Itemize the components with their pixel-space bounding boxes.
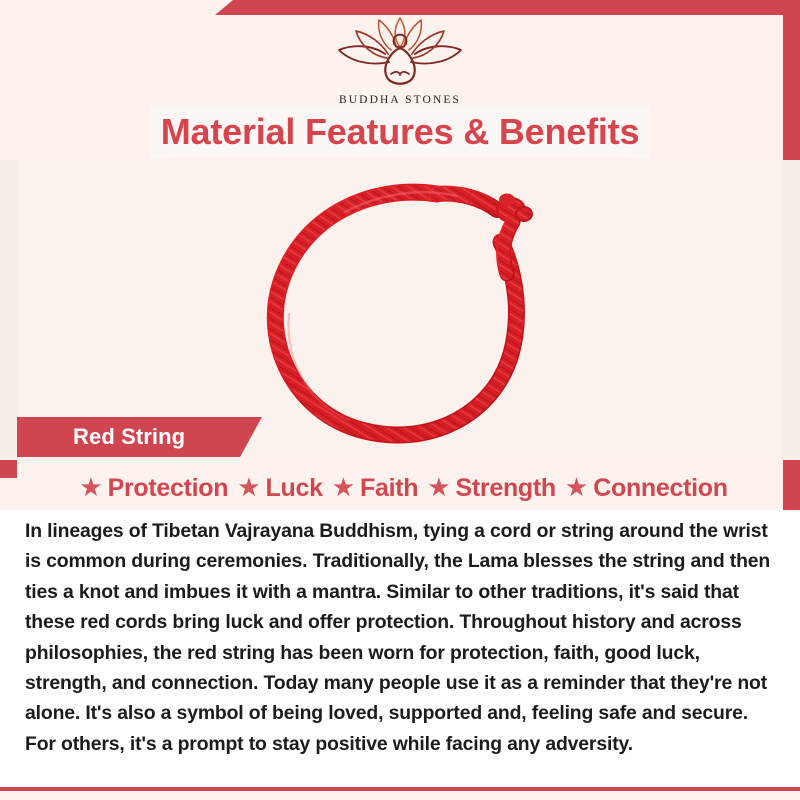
page-title: Material Features & Benefits xyxy=(161,111,640,153)
hero-section xyxy=(0,160,800,460)
benefit-item: ★ Protection xyxy=(72,474,228,503)
benefit-item: ★ Strength xyxy=(420,474,556,503)
benefit-label: Luck xyxy=(266,474,323,503)
star-icon: ★ xyxy=(237,474,260,500)
brand-logo: BUDDHA STONES xyxy=(0,14,800,106)
product-label-banner: Red String xyxy=(17,417,262,457)
benefits-row: ★ Protection ★ Luck ★ Faith ★ Strength ★… xyxy=(0,466,800,510)
lotus-meditation-icon xyxy=(327,14,473,92)
star-icon: ★ xyxy=(427,474,450,500)
decorative-bottom-rule xyxy=(0,787,800,791)
benefit-label: Protection xyxy=(108,474,229,503)
benefit-label: Faith xyxy=(360,474,418,503)
benefit-item: ★ Faith xyxy=(325,474,419,503)
product-label: Red String xyxy=(73,424,185,450)
red-braided-string-bracelet-image xyxy=(245,164,575,456)
star-icon: ★ xyxy=(79,474,102,500)
header: BUDDHA STONES Material Features & Benefi… xyxy=(0,0,800,160)
benefit-label: Strength xyxy=(456,474,556,503)
description-section: In lineages of Tibetan Vajrayana Buddhis… xyxy=(0,510,800,790)
infographic-page: BUDDHA STONES Material Features & Benefi… xyxy=(0,0,800,800)
benefit-label: Connection xyxy=(593,474,728,503)
star-icon: ★ xyxy=(565,474,588,500)
benefit-item: ★ Connection xyxy=(558,474,728,503)
title-plate: Material Features & Benefits xyxy=(150,105,650,158)
benefit-item: ★ Luck xyxy=(230,474,322,503)
star-icon: ★ xyxy=(332,474,355,500)
description-text: In lineages of Tibetan Vajrayana Buddhis… xyxy=(25,516,772,759)
